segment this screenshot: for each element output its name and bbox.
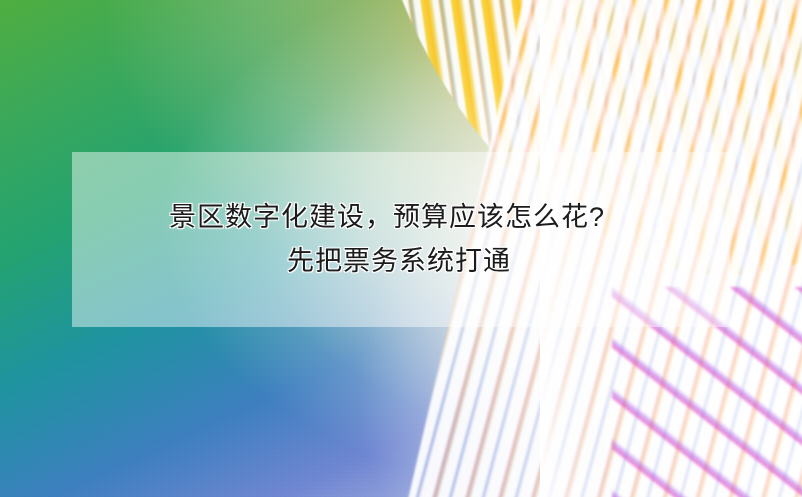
cover-image: 景区数字化建设，预算应该怎么花? 先把票务系统打通 <box>0 0 802 497</box>
caption-headline-line-2: 先把票务系统打通 <box>287 240 511 284</box>
caption-panel: 景区数字化建设，预算应该怎么花? 先把票务系统打通 <box>72 152 730 327</box>
caption-headline-line-1: 景区数字化建设，预算应该怎么花? <box>169 196 605 240</box>
